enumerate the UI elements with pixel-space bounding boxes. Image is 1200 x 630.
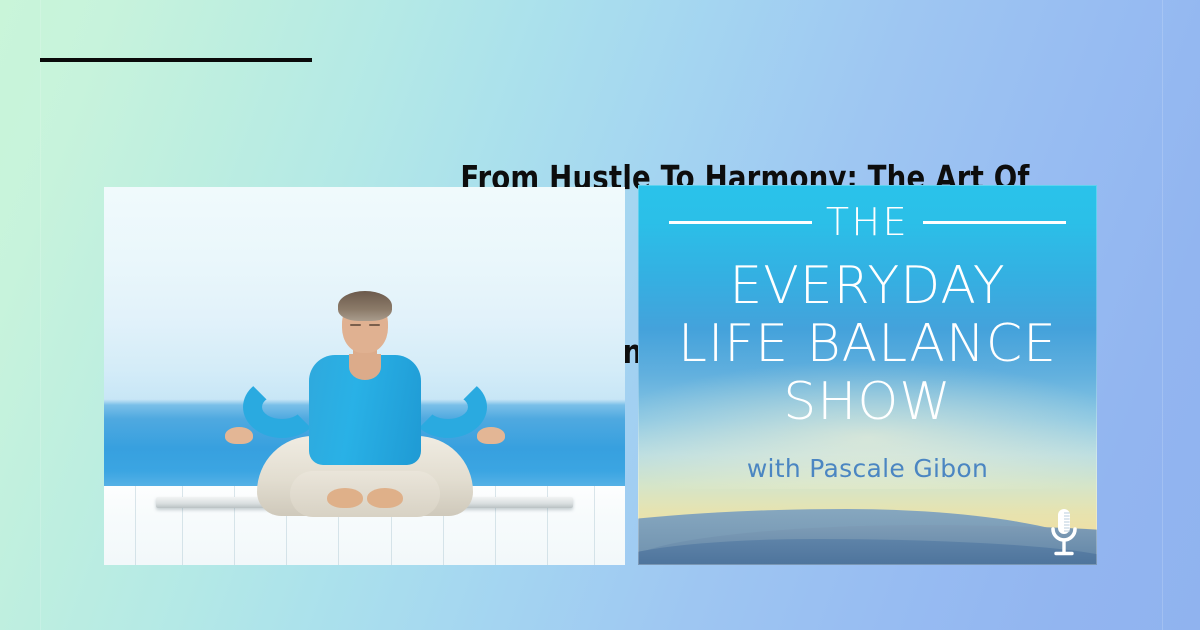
cover-title-line-2: LIFE BALANCE <box>678 315 1057 373</box>
cover-host-credit: with Pascale Gibon <box>747 454 988 483</box>
cover-rule-left <box>669 221 812 224</box>
meditating-person <box>104 187 625 565</box>
cover-title-line-3: SHOW <box>678 373 1057 431</box>
person-shins <box>290 471 440 517</box>
background-seam-left <box>40 0 41 630</box>
decorative-rule <box>40 58 312 62</box>
meditation-photo <box>104 187 625 565</box>
person-left-eye <box>350 324 361 326</box>
person-right-hand <box>477 427 505 444</box>
background-seam-right <box>1162 0 1163 630</box>
person-left-foot <box>327 488 363 508</box>
cover-eyebrow: THE <box>826 203 909 241</box>
microphone-icon <box>1047 507 1081 559</box>
person-right-foot <box>367 488 403 508</box>
cover-rule-right <box>923 221 1066 224</box>
cover-title: EVERYDAY LIFE BALANCE SHOW <box>678 257 1057 432</box>
podcast-cover-art: THE EVERYDAY LIFE BALANCE SHOW with Pasc… <box>638 185 1097 565</box>
cover-title-line-1: EVERYDAY <box>678 257 1057 315</box>
person-left-hand <box>225 427 253 444</box>
cover-eyebrow-row: THE <box>638 203 1097 241</box>
person-hair <box>338 291 392 321</box>
cover-content: THE EVERYDAY LIFE BALANCE SHOW with Pasc… <box>638 185 1097 565</box>
person-right-eye <box>369 324 380 326</box>
person-collar <box>349 354 381 380</box>
